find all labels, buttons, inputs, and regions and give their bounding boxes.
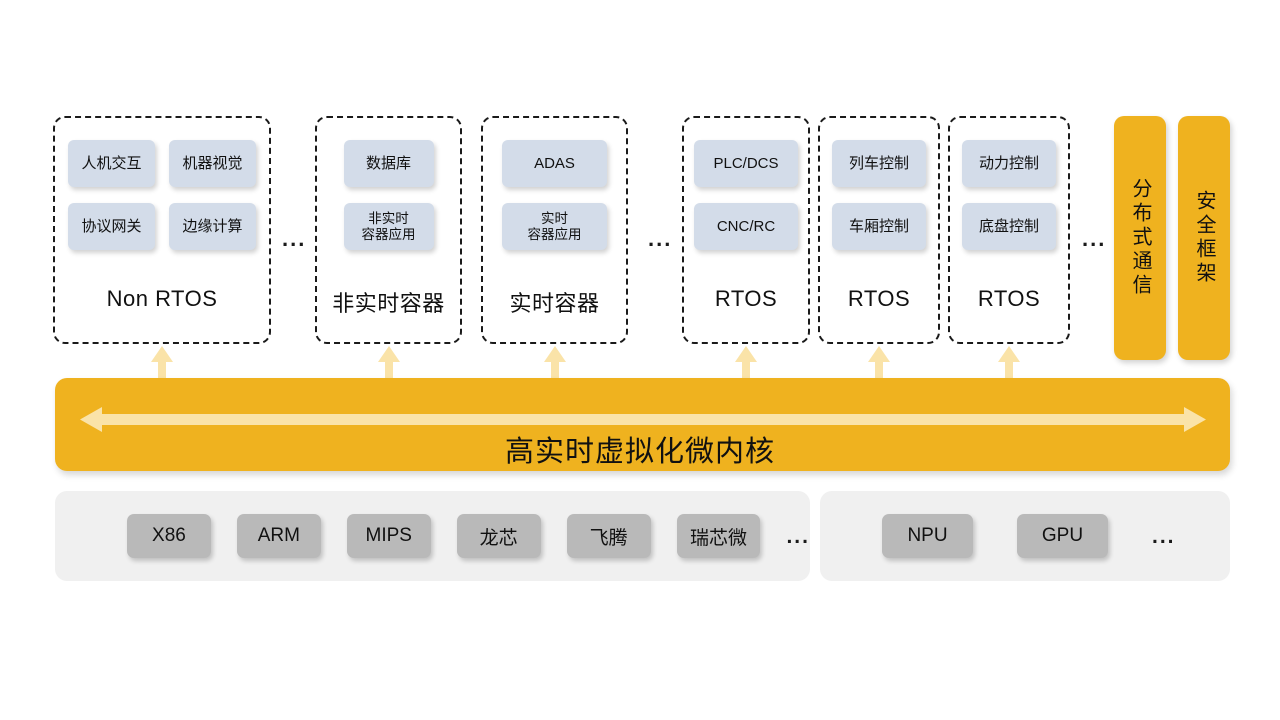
os-group-rtos-industrial[interactable]: PLC/DCS CNC/RC RTOS [682, 116, 810, 344]
app-row: 底盘控制 [962, 203, 1056, 250]
hardware-ellipsis-accelerators: ... [1152, 526, 1176, 547]
app-row: PLC/DCS [694, 140, 798, 187]
os-group-rtos-rail[interactable]: 列车控制 车厢控制 RTOS [818, 116, 940, 344]
hardware-ellipsis-cpu: ... [786, 526, 810, 547]
microkernel-label: 高实时虚拟化微内核 [0, 428, 1280, 470]
hw-chip[interactable]: X86 [127, 514, 211, 558]
app-row: 协议网关 边缘计算 [68, 203, 256, 250]
hw-chip[interactable]: NPU [882, 514, 973, 558]
os-group-label: RTOS [950, 286, 1068, 312]
app-box-rows: 列车控制 车厢控制 [832, 140, 926, 250]
app-box[interactable]: CNC/RC [694, 203, 798, 250]
app-box[interactable]: 列车控制 [832, 140, 926, 187]
os-group-label: 非实时容器 [317, 286, 460, 318]
app-box[interactable]: 协议网关 [68, 203, 155, 250]
app-box[interactable]: ADAS [502, 140, 607, 187]
hw-chip[interactable]: 龙芯 [457, 514, 541, 558]
app-row: ADAS [502, 140, 607, 187]
pillar-distributed-communication[interactable]: 分布式通信 [1114, 116, 1166, 360]
hardware-panel-accelerators: NPU GPU ... [820, 491, 1230, 581]
os-group-label: 实时容器 [483, 286, 626, 318]
app-box-rows: PLC/DCS CNC/RC [694, 140, 798, 250]
app-box[interactable]: 非实时 容器应用 [344, 203, 434, 250]
hw-chip[interactable]: 瑞芯微 [677, 514, 761, 558]
ellipsis-separator-1: ... [282, 228, 306, 250]
app-row: 实时 容器应用 [502, 203, 607, 250]
pillar-security-framework[interactable]: 安全框架 [1178, 116, 1230, 360]
os-group-rtos-vehicle[interactable]: 动力控制 底盘控制 RTOS [948, 116, 1070, 344]
architecture-diagram: 人机交互 机器视觉 协议网关 边缘计算 Non RTOS ... 数据库 非实时… [0, 0, 1280, 720]
app-row: CNC/RC [694, 203, 798, 250]
os-group-non-realtime-container[interactable]: 数据库 非实时 容器应用 非实时容器 [315, 116, 462, 344]
os-group-realtime-container[interactable]: ADAS 实时 容器应用 实时容器 [481, 116, 628, 344]
ellipsis-separator-3: ... [1082, 228, 1106, 250]
app-box[interactable]: 实时 容器应用 [502, 203, 607, 250]
app-box[interactable]: 边缘计算 [169, 203, 256, 250]
hw-chip[interactable]: 飞腾 [567, 514, 651, 558]
app-row: 车厢控制 [832, 203, 926, 250]
app-box-rows: 人机交互 机器视觉 协议网关 边缘计算 [68, 140, 256, 250]
app-box[interactable]: 车厢控制 [832, 203, 926, 250]
app-box[interactable]: 数据库 [344, 140, 434, 187]
app-row: 人机交互 机器视觉 [68, 140, 256, 187]
hw-chip[interactable]: ARM [237, 514, 321, 558]
app-box[interactable]: 人机交互 [68, 140, 155, 187]
pillar-label: 分布式通信 [1130, 178, 1150, 298]
ellipsis-separator-2: ... [648, 228, 672, 250]
app-row: 数据库 [344, 140, 434, 187]
app-box-rows: 动力控制 底盘控制 [962, 140, 1056, 250]
app-box-rows: 数据库 非实时 容器应用 [344, 140, 434, 250]
os-group-non-rtos[interactable]: 人机交互 机器视觉 协议网关 边缘计算 Non RTOS [53, 116, 271, 344]
hw-chip[interactable]: MIPS [347, 514, 431, 558]
pillar-label: 安全框架 [1194, 190, 1214, 286]
os-group-label: RTOS [684, 286, 808, 312]
app-row: 非实时 容器应用 [344, 203, 434, 250]
hw-chip[interactable]: GPU [1017, 514, 1108, 558]
os-group-label: Non RTOS [55, 286, 269, 312]
hardware-panel-cpu: X86 ARM MIPS 龙芯 飞腾 瑞芯微 ... [55, 491, 810, 581]
app-row: 列车控制 [832, 140, 926, 187]
app-box[interactable]: 动力控制 [962, 140, 1056, 187]
app-box-rows: ADAS 实时 容器应用 [502, 140, 607, 250]
os-group-label: RTOS [820, 286, 938, 312]
app-box[interactable]: 机器视觉 [169, 140, 256, 187]
app-box[interactable]: PLC/DCS [694, 140, 798, 187]
app-row: 动力控制 [962, 140, 1056, 187]
app-box[interactable]: 底盘控制 [962, 203, 1056, 250]
